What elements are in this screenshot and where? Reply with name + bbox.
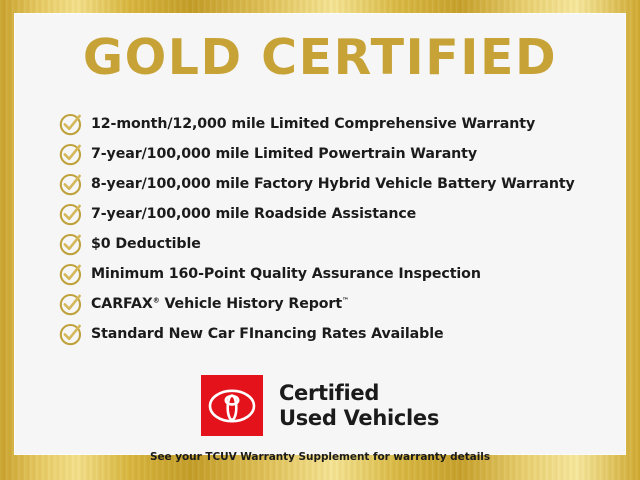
toyota-certified-lockup: Certified Used Vehicles xyxy=(14,375,626,436)
check-circle-icon xyxy=(58,291,84,317)
list-item: Minimum 160-Point Quality Assurance Insp… xyxy=(58,259,608,289)
lockup-line-1: Certified xyxy=(279,381,439,406)
list-item: 7-year/100,000 mile Roadside Assistance xyxy=(58,199,608,229)
certified-badge-graphic: GOLD CERTIFIED 12-month/12,000 mile Limi… xyxy=(0,0,640,480)
check-circle-icon xyxy=(58,171,84,197)
check-circle-icon xyxy=(58,141,84,167)
carfax-report-label: Vehicle History Report xyxy=(160,296,342,312)
check-circle-icon xyxy=(58,321,84,347)
list-item-label-carfax: CARFAX® Vehicle History Report™ xyxy=(91,296,349,312)
list-item: 7-year/100,000 mile Limited Powertrain W… xyxy=(58,139,608,169)
list-item: 12-month/12,000 mile Limited Comprehensi… xyxy=(58,109,608,139)
list-item-label: 7-year/100,000 mile Limited Powertrain W… xyxy=(91,146,477,162)
benefits-list: 12-month/12,000 mile Limited Comprehensi… xyxy=(58,109,608,349)
list-item-label: 7-year/100,000 mile Roadside Assistance xyxy=(91,206,416,222)
list-item: Standard New Car FInancing Rates Availab… xyxy=(58,319,608,349)
list-item-label: $0 Deductible xyxy=(91,236,201,252)
check-circle-icon xyxy=(58,261,84,287)
badge-card: GOLD CERTIFIED 12-month/12,000 mile Limi… xyxy=(14,13,626,455)
list-item-label: Standard New Car FInancing Rates Availab… xyxy=(91,326,444,342)
list-item: 8-year/100,000 mile Factory Hybrid Vehic… xyxy=(58,169,608,199)
check-circle-icon xyxy=(58,231,84,257)
disclaimer-text: See your TCUV Warranty Supplement for wa… xyxy=(14,451,626,463)
carfax-wordmark: CARFAX xyxy=(91,296,153,312)
page-title: GOLD CERTIFIED xyxy=(14,33,626,82)
list-item: $0 Deductible xyxy=(58,229,608,259)
lockup-line-2: Used Vehicles xyxy=(279,406,439,431)
lockup-text: Certified Used Vehicles xyxy=(279,381,439,431)
check-circle-icon xyxy=(58,201,84,227)
trademark-symbol: ™ xyxy=(342,296,349,304)
list-item-label: 12-month/12,000 mile Limited Comprehensi… xyxy=(91,116,535,132)
registered-trademark-symbol: ® xyxy=(153,296,160,304)
toyota-emblem-icon xyxy=(201,375,263,436)
list-item-label: 8-year/100,000 mile Factory Hybrid Vehic… xyxy=(91,176,575,192)
check-circle-icon xyxy=(58,111,84,137)
list-item-label: Minimum 160-Point Quality Assurance Insp… xyxy=(91,266,481,282)
list-item: CARFAX® Vehicle History Report™ xyxy=(58,289,608,319)
